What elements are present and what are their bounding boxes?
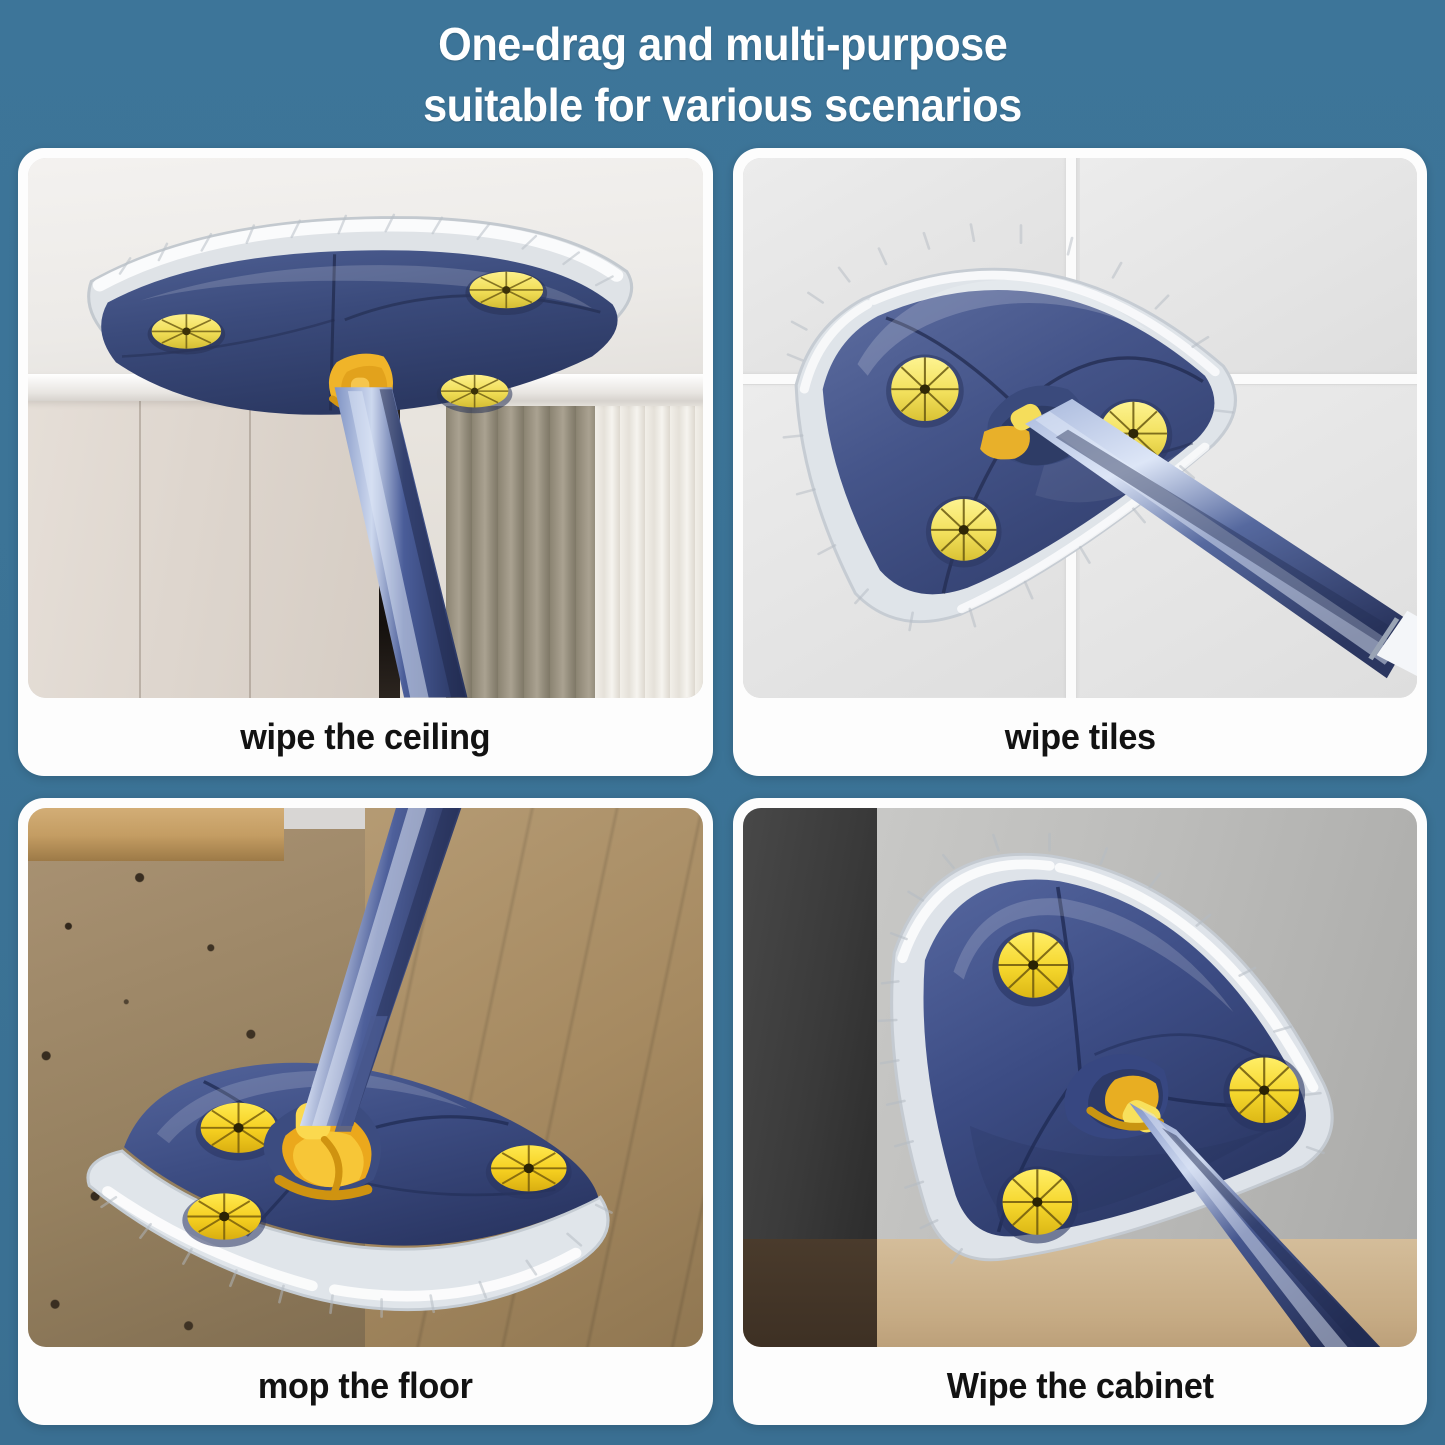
- scene-cabinet: [743, 808, 1418, 1348]
- panel-card-ceiling[interactable]: wipe the ceiling: [18, 148, 713, 776]
- panel-caption-cabinet: Wipe the cabinet: [759, 1347, 1400, 1425]
- scene-tiles: [743, 158, 1418, 698]
- photo-floor: [28, 808, 703, 1348]
- photo-tiles: [743, 158, 1418, 698]
- panel-card-cabinet[interactable]: Wipe the cabinet: [733, 798, 1428, 1426]
- photo-cabinet: [743, 808, 1418, 1348]
- mop-assembly-ceiling: [28, 158, 703, 698]
- mop-assembly-tiles: [743, 158, 1418, 698]
- panel-card-floor[interactable]: mop the floor: [18, 798, 713, 1426]
- mop-assembly-floor: [28, 808, 703, 1348]
- mop-assembly-cabinet: [743, 808, 1418, 1348]
- panel-card-tiles[interactable]: wipe tiles: [733, 148, 1428, 776]
- photo-ceiling: [28, 158, 703, 698]
- title-line-1: One-drag and multi-purpose: [438, 14, 1007, 75]
- panel-caption-ceiling: wipe the ceiling: [45, 698, 686, 776]
- panel-caption-tiles: wipe tiles: [759, 698, 1400, 776]
- panel-caption-floor: mop the floor: [45, 1347, 686, 1425]
- title-line-2: suitable for various scenarios: [423, 75, 1022, 136]
- page-title: One-drag and multi-purpose suitable for …: [0, 0, 1445, 148]
- infographic-page: One-drag and multi-purpose suitable for …: [0, 0, 1445, 1445]
- scene-floor: [28, 808, 703, 1348]
- panel-grid: wipe the ceiling: [0, 148, 1445, 1445]
- scene-ceiling: [28, 158, 703, 698]
